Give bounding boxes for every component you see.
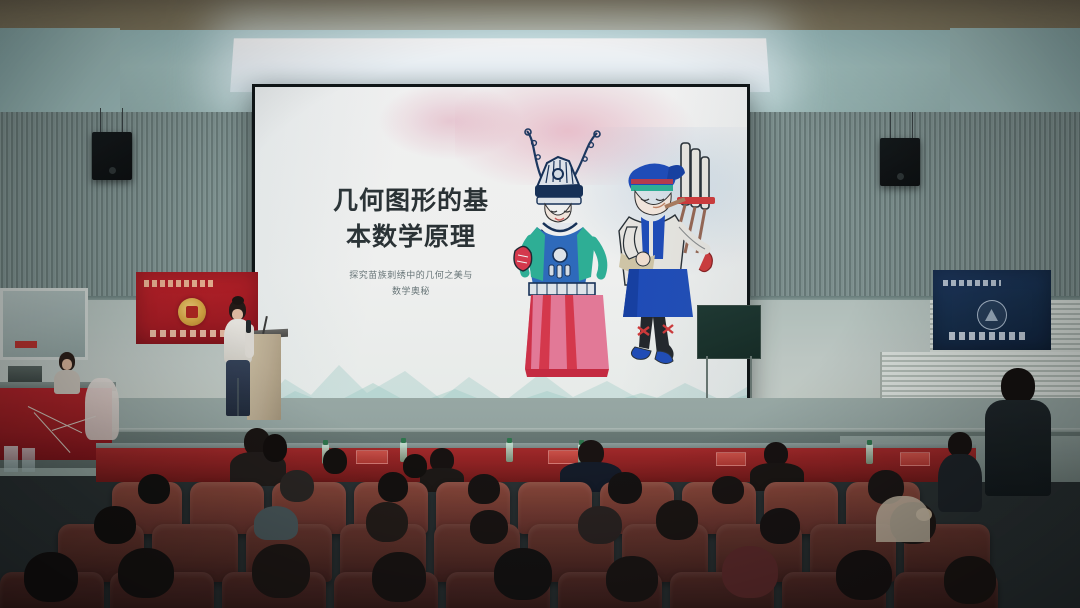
audience-head bbox=[470, 510, 508, 544]
audience-head bbox=[366, 502, 408, 542]
left-wall-whiteboard bbox=[0, 288, 88, 360]
red-banner-seal-icon bbox=[178, 298, 206, 326]
standing-attendee bbox=[985, 368, 1051, 518]
audience-head bbox=[608, 472, 642, 504]
audience-head bbox=[468, 474, 500, 504]
screen-light-shade bbox=[255, 87, 747, 413]
presenter-microphone-icon bbox=[246, 320, 251, 333]
projection-screen[interactable]: 几何图形的基 本数学原理 探究苗族刺绣中的几何之美与 数学奥秘 bbox=[255, 87, 747, 413]
audience-head bbox=[836, 550, 892, 600]
blue-banner-emblem-icon bbox=[977, 300, 1007, 330]
audience-head bbox=[138, 474, 170, 504]
audience-head bbox=[280, 470, 314, 502]
presenter-hair-bun bbox=[232, 296, 244, 305]
presenter bbox=[218, 300, 258, 422]
audience-head bbox=[323, 448, 347, 474]
audience-head bbox=[712, 476, 744, 504]
red-banner-seal-inner bbox=[186, 306, 198, 318]
standing-attendee-2 bbox=[938, 432, 982, 512]
audience-head bbox=[494, 548, 552, 600]
name-card bbox=[716, 452, 746, 466]
white-dress-object bbox=[85, 378, 119, 440]
standing-attendee-head bbox=[1001, 368, 1035, 404]
audience-head-cap bbox=[254, 506, 298, 540]
green-blackboard bbox=[697, 305, 761, 359]
audience-head bbox=[94, 506, 136, 544]
operator-face bbox=[62, 359, 72, 370]
speaker-left-wire2 bbox=[122, 108, 123, 134]
audience-head-red bbox=[722, 546, 778, 598]
name-card bbox=[900, 452, 930, 466]
audience-head bbox=[24, 552, 78, 602]
audience-head bbox=[118, 548, 174, 598]
speaker-right bbox=[880, 138, 920, 186]
whiteboard-red-label bbox=[15, 341, 37, 348]
display-case-left bbox=[4, 446, 18, 472]
standing-attendee-torso bbox=[985, 400, 1051, 496]
water-bottle bbox=[506, 442, 513, 462]
judges-table bbox=[96, 448, 976, 482]
display-case-right bbox=[22, 448, 35, 472]
audience-shoulder-light bbox=[876, 496, 930, 542]
blue-banner-emblem-inner bbox=[985, 309, 998, 321]
audience-head bbox=[403, 454, 427, 478]
ceiling-bevel-left bbox=[0, 28, 120, 124]
presenter-leg-gap bbox=[237, 378, 239, 416]
audience-head bbox=[378, 472, 408, 502]
speaker-right-wire2 bbox=[912, 112, 913, 140]
standing-attendee-2-torso bbox=[938, 454, 982, 512]
speaker-left-wire bbox=[100, 108, 101, 132]
blue-banner-top-text bbox=[943, 280, 1001, 286]
audience-head bbox=[944, 556, 996, 604]
audience-head bbox=[656, 500, 698, 540]
blue-banner bbox=[933, 270, 1051, 350]
speaker-left bbox=[92, 132, 132, 180]
speaker-right-wire bbox=[890, 112, 891, 138]
audience-head bbox=[372, 552, 426, 602]
operator-torso bbox=[54, 370, 80, 394]
red-banner-bottom-text bbox=[150, 330, 228, 337]
blue-banner-bottom-text bbox=[949, 332, 1029, 340]
red-banner-top-text bbox=[144, 280, 216, 287]
ceiling-bevel-right bbox=[950, 28, 1080, 124]
ceiling-upper-band bbox=[0, 0, 1080, 34]
audience-head bbox=[263, 434, 287, 462]
seated-operator bbox=[52, 352, 82, 392]
water-bottle bbox=[866, 444, 873, 464]
lecture-hall-photo: 几何图形的基 本数学原理 探究苗族刺绣中的几何之美与 数学奥秘 bbox=[0, 0, 1080, 608]
audience-head bbox=[252, 544, 310, 598]
audience-head bbox=[606, 556, 658, 602]
audience-head bbox=[760, 508, 800, 544]
audience-head bbox=[578, 506, 622, 544]
name-card bbox=[356, 450, 388, 464]
